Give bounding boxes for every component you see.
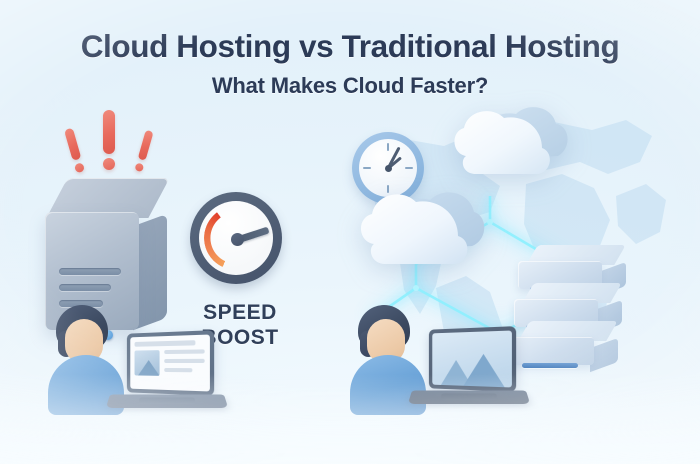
page-subtitle: What Makes Cloud Faster? <box>0 73 700 99</box>
laptop-chart-icon <box>410 328 528 413</box>
speedometer-icon <box>190 192 282 284</box>
cloud-hosting-scene <box>330 100 700 464</box>
page-title: Cloud Hosting vs Traditional Hosting <box>0 28 700 65</box>
cloud-icon-lower <box>348 182 488 288</box>
traditional-hosting-scene: SPEED BOOST <box>0 100 330 464</box>
stacked-servers-icon <box>510 245 638 385</box>
exclamation-mark-center <box>103 110 115 170</box>
infographic-canvas: Cloud Hosting vs Traditional Hosting Wha… <box>0 0 700 464</box>
laptop-webpage-icon <box>108 332 226 417</box>
speed-boost-line1: SPEED <box>150 300 330 325</box>
exclamation-marks-icon <box>70 108 160 178</box>
exclamation-mark-right <box>134 130 153 173</box>
exclamation-mark-left <box>64 128 85 174</box>
